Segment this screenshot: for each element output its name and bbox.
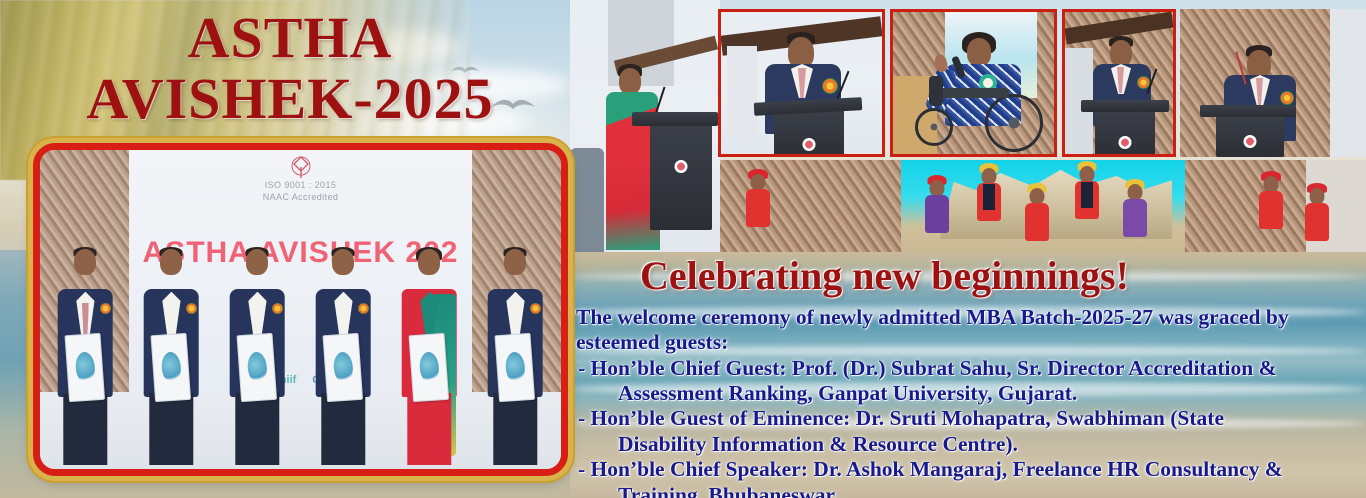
speaker-head (1247, 50, 1271, 78)
dancer-figure (920, 180, 954, 250)
seated-person (570, 148, 604, 252)
dancer-figure (970, 168, 1008, 250)
figure-head (332, 249, 354, 275)
dignitary-figure (50, 244, 120, 469)
dancer-costume (1305, 203, 1329, 241)
podium-emblem-icon (803, 138, 816, 151)
wheelchair-armrest (929, 76, 943, 106)
guest-line-primary: - Hon’ble Chief Speaker: Dr. Ashok Manga… (578, 457, 1283, 481)
guest-head (967, 38, 991, 66)
dignitary-figure (136, 244, 206, 469)
main-photo-frame: ISO 9001 : 2015 NAAC Accredited ASTHA AV… (33, 143, 568, 476)
naac-line: NAAC Accredited (263, 191, 339, 203)
dignitary-figure-female (394, 244, 464, 469)
dancer-figure (738, 174, 778, 250)
speaker-rosette-icon (1280, 91, 1294, 105)
souvenir-book (495, 333, 536, 403)
photo-chief-guest-at-podium (718, 9, 885, 157)
photo-cultural-dance-performance (720, 160, 1366, 252)
podium (1216, 113, 1284, 157)
souvenir-book (323, 333, 364, 403)
guest-line-continued: Disability Information & Resource Centre… (592, 432, 1366, 457)
guest-entry-chief-speaker: - Hon’ble Chief Speaker: Dr. Ashok Manga… (578, 457, 1366, 498)
photo-female-host-at-podium (570, 0, 720, 252)
dignitaries-row (50, 214, 550, 469)
dancer-figure (1068, 166, 1106, 250)
host-head (619, 68, 641, 94)
figure-head (504, 249, 526, 275)
figure-head (160, 249, 182, 275)
dancer-figure (1118, 184, 1152, 250)
figure-rosette-icon (272, 303, 283, 314)
figure-head (74, 249, 96, 275)
dancer-vest (983, 184, 995, 210)
guest-line-primary: - Hon’ble Guest of Eminence: Dr. Sruti M… (578, 406, 1224, 430)
souvenir-book (409, 333, 450, 403)
title-line-astha: ASTHA (30, 8, 550, 67)
institution-logo-icon (281, 155, 321, 181)
wall-panel (727, 46, 757, 138)
dignitary-figure (308, 244, 378, 469)
podium-top (1081, 100, 1169, 112)
dancer-figure (1020, 188, 1054, 250)
wheelchair-frame (937, 88, 1009, 98)
event-description: The welcome ceremony of newly admitted M… (576, 305, 1366, 498)
figure-rosette-icon (100, 303, 111, 314)
podium-top (1200, 105, 1296, 117)
souvenir-book (65, 333, 106, 403)
dancer-figure (1252, 176, 1290, 250)
backdrop-accreditation-text: ISO 9001 : 2015 NAAC Accredited (263, 179, 339, 203)
photo-speaker-at-podium-one (1062, 9, 1176, 157)
souvenir-book (151, 333, 192, 403)
speaker-head (1110, 40, 1132, 66)
podium (774, 108, 844, 157)
dancer-costume (1025, 203, 1049, 241)
podium (1095, 108, 1155, 157)
wall-panel (1330, 9, 1366, 157)
podium (650, 118, 712, 230)
title-line-avishek-2025: AVISHEK-2025 (30, 69, 550, 128)
photo-speaker-at-podium-two (1180, 9, 1366, 157)
podium-emblem-icon (1119, 136, 1132, 149)
guest-entry-guest-of-eminence: - Hon’ble Guest of Eminence: Dr. Sruti M… (578, 406, 1366, 457)
photo-guest-of-eminence-wheelchair (890, 9, 1057, 157)
dancer-costume (1123, 199, 1147, 237)
figure-legs (322, 393, 365, 465)
figure-legs (494, 393, 537, 465)
guest-line-continued: Assessment Ranking, Ganpat University, G… (592, 381, 1366, 406)
dancer-figure (1300, 188, 1334, 250)
dancer-costume (746, 189, 770, 227)
guest-entry-chief-guest: - Hon’ble Chief Guest: Prof. (Dr.) Subra… (578, 356, 1366, 407)
description-intro: The welcome ceremony of newly admitted M… (576, 305, 1366, 356)
dignitary-figure (222, 244, 292, 469)
dancer-vest (1081, 182, 1093, 208)
wheelchair-wheel (985, 94, 1043, 152)
figure-legs (64, 393, 107, 465)
figure-legs (236, 393, 279, 465)
banner-title: ASTHA AVISHEK-2025 (30, 8, 550, 128)
photo-collage (570, 0, 1366, 252)
guest-line-primary: - Hon’ble Chief Guest: Prof. (Dr.) Subra… (578, 356, 1277, 380)
figure-legs (408, 393, 451, 465)
guest-line-continued: Training, Bhubaneswar. (592, 483, 1366, 498)
celebration-headline: Celebrating new beginnings! (640, 252, 1360, 299)
wheelchair-wheel (915, 108, 953, 146)
figure-legs (150, 393, 193, 465)
figure-head (246, 249, 268, 275)
figure-head (418, 249, 440, 275)
podium-emblem-icon (675, 160, 688, 173)
podium-top (632, 112, 718, 126)
souvenir-book (237, 333, 278, 403)
podium-emblem-icon (1244, 135, 1257, 148)
dancer-costume (1259, 191, 1283, 229)
figure-rosette-icon (530, 303, 541, 314)
book-launch-ceremony-photo: ISO 9001 : 2015 NAAC Accredited ASTHA AV… (40, 150, 561, 469)
event-banner: ASTHA AVISHEK-2025 ISO 9001 : 2015 NAAC … (0, 0, 1366, 498)
iso-line: ISO 9001 : 2015 (263, 179, 339, 191)
figure-rosette-icon (186, 303, 197, 314)
guest-rosette-icon (822, 78, 838, 94)
dancer-costume (925, 195, 949, 233)
figure-rosette-icon (358, 303, 369, 314)
dignitary-figure (480, 244, 550, 469)
